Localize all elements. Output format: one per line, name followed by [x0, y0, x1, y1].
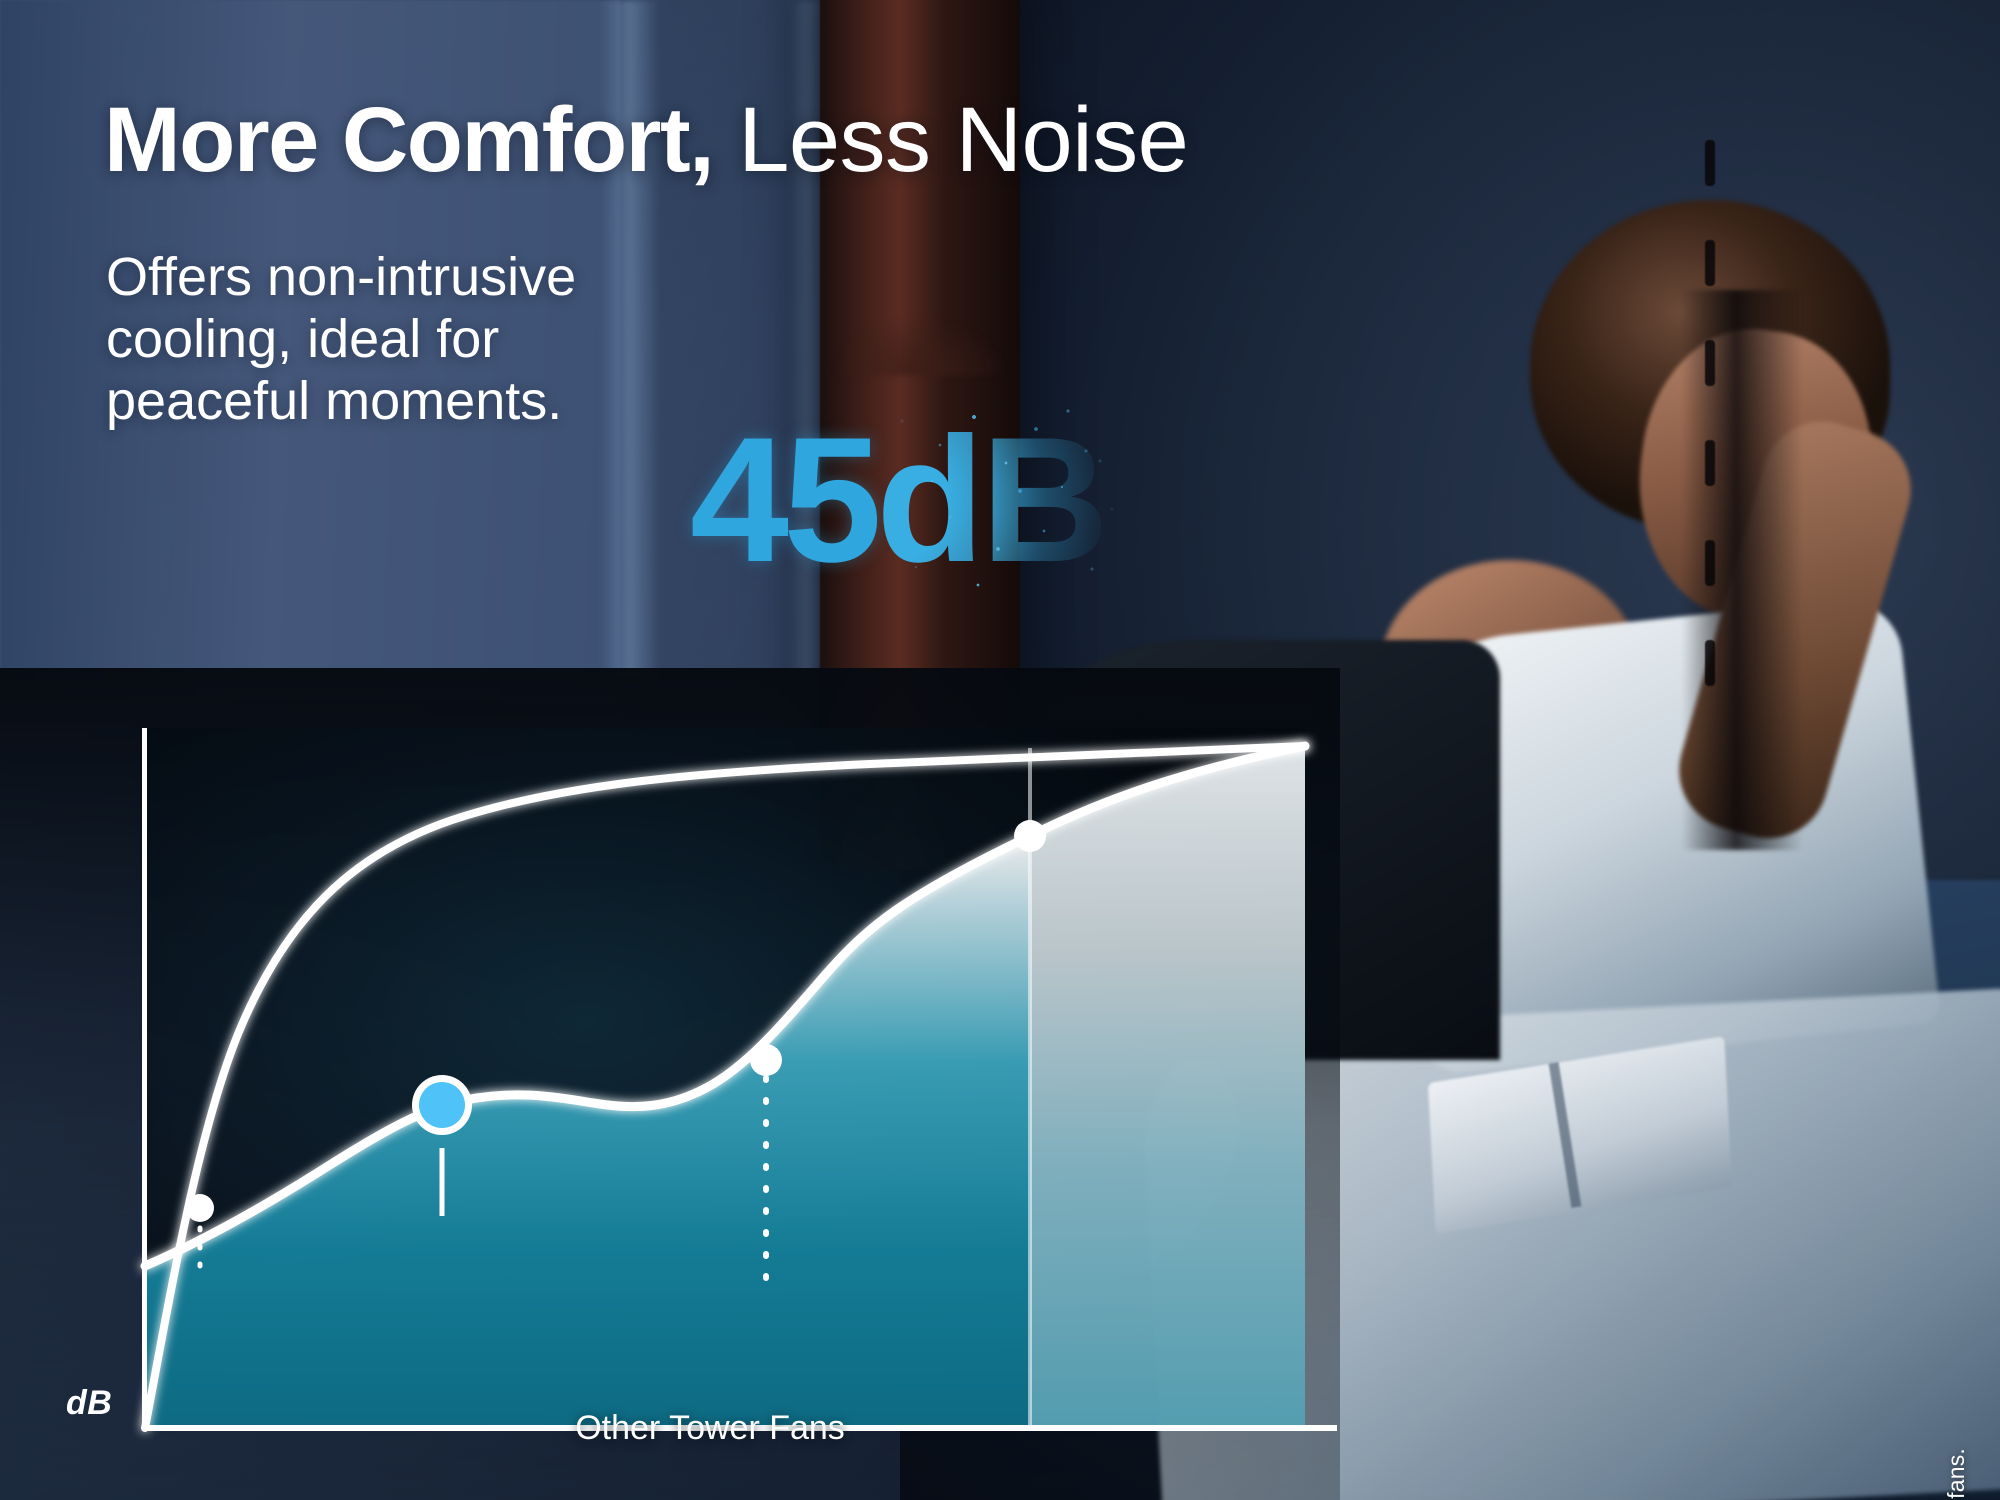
chart-label-other-fans: Other Tower Fans: [560, 1408, 860, 1448]
tower-fan-vent-slot: [1705, 640, 1715, 686]
subheadline: Offers non-intrusive cooling, ideal for …: [106, 246, 666, 432]
tower-fan-vent-slot: [1705, 140, 1715, 186]
marker-probreeze: [419, 1082, 465, 1128]
marker-leaves-rustling: [186, 1194, 214, 1222]
noise-comparison-chart: dB Other Tower Fans Leaves Rustling Back…: [0, 668, 1340, 1500]
tower-fan-vent-slot: [1705, 240, 1715, 286]
chart-y-axis: [142, 728, 147, 1428]
footnote-disclaimer: *Quieter in comparison to selected avail…: [1943, 1448, 1970, 1500]
chart-y-axis-label: dB: [66, 1384, 112, 1423]
headline-bold-part: More Comfort,: [104, 89, 713, 191]
marker-background-music: [750, 1044, 782, 1076]
infographic-stage: 45 dB More Comfort, Less Noise Offers no…: [0, 0, 2000, 1500]
chart-area-nuisance: [1030, 748, 1305, 1428]
page-title: More Comfort, Less Noise: [104, 92, 1364, 188]
tower-fan-inner-shadow: [1682, 290, 1802, 850]
tower-fan-vent-slot: [1705, 540, 1715, 586]
tower-fan-vent-slot: [1705, 440, 1715, 486]
tower-fan-vent-slot: [1705, 340, 1715, 386]
headline-light-part: Less Noise: [713, 89, 1188, 191]
marker-nuisance-start: [1014, 820, 1046, 852]
tower-fan-arch-highlight: [820, 295, 1020, 375]
chart-svg: [0, 668, 1340, 1500]
